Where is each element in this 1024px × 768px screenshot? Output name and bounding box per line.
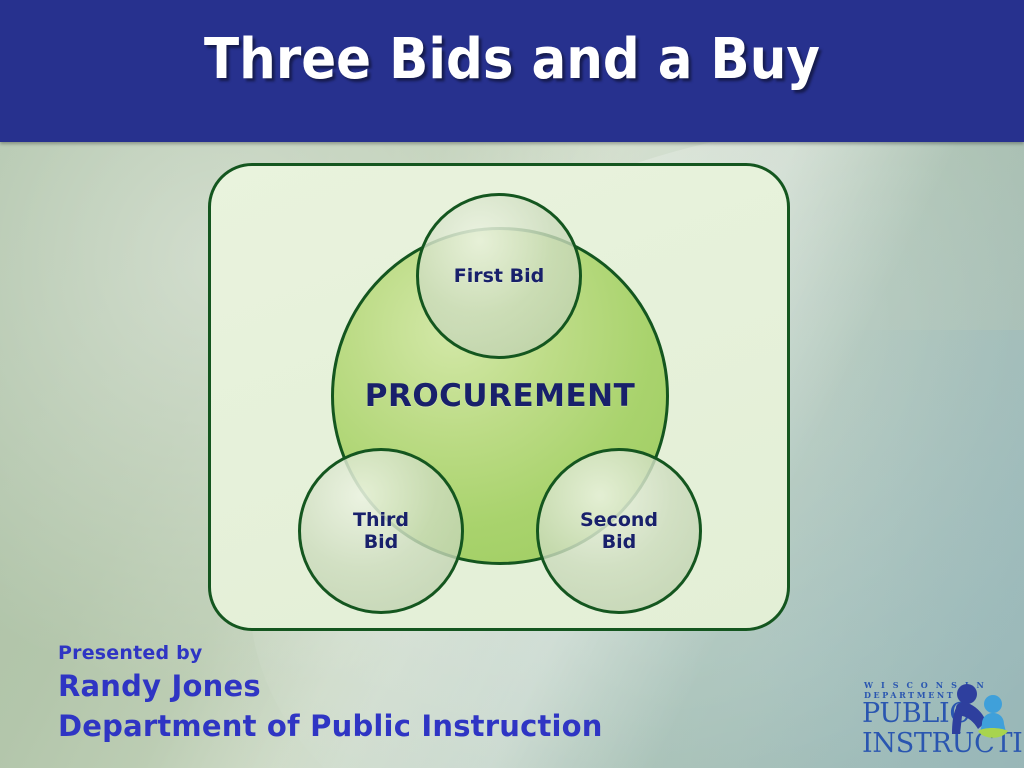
presented-by-label: Presented by <box>58 640 818 666</box>
slide-title: Three Bids and a Buy <box>41 27 983 92</box>
procurement-venn-diagram: PROCUREMENT First Bid Third Bid Second B… <box>208 163 790 631</box>
slide: Three Bids and a Buy PROCUREMENT First B… <box>0 0 1024 768</box>
first-bid-label: First Bid <box>454 265 544 287</box>
title-banner: Three Bids and a Buy <box>0 0 1024 142</box>
presenter-organization: Department of Public Instruction <box>58 706 818 746</box>
presenter-block: Presented by Randy Jones Department of P… <box>58 640 818 746</box>
third-bid-label: Third Bid <box>353 509 409 554</box>
procurement-label: PROCUREMENT <box>365 378 636 414</box>
presenter-name: Randy Jones <box>58 666 818 706</box>
second-bid-circle[interactable]: Second Bid <box>536 448 702 614</box>
third-bid-circle[interactable]: Third Bid <box>298 448 464 614</box>
first-bid-circle[interactable]: First Bid <box>416 193 582 359</box>
adult-and-child-reading-icon <box>948 682 1022 744</box>
second-bid-label: Second Bid <box>580 509 658 554</box>
wisconsin-dpi-logo[interactable]: W I S C O N S I N DEPARTMENT OF PUBLIC I… <box>862 680 1022 766</box>
